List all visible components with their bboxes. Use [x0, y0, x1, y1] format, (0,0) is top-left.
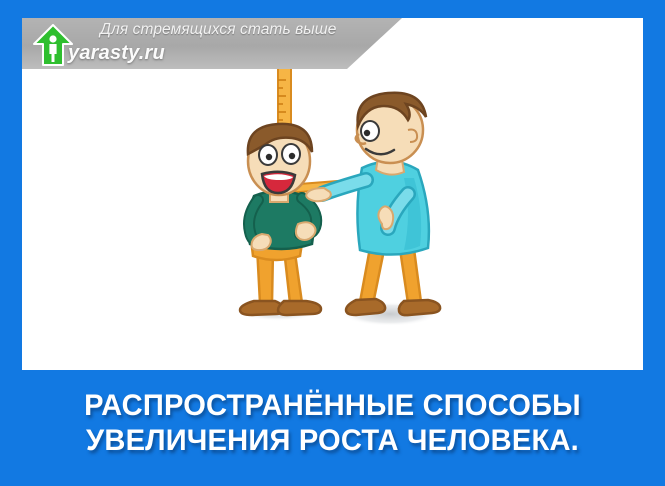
banner-site-name: yarasty.ru [68, 42, 165, 65]
image-root: Для стремящихся стать выше yarasty.ru РА… [0, 0, 665, 486]
tall-man-cyan-shirt [306, 93, 440, 315]
content-panel: Для стремящихся стать выше yarasty.ru [22, 18, 643, 370]
caption-line-2: УВЕЛИЧЕНИЯ РОСТА ЧЕЛОВЕКА. [10, 423, 655, 458]
short-man-green-shirt [240, 124, 321, 315]
caption: РАСПРОСТРАНЁННЫЕ СПОСОБЫ УВЕЛИЧЕНИЯ РОСТ… [0, 388, 665, 458]
watermark-banner: Для стремящихся стать выше yarasty.ru [22, 18, 402, 69]
banner-tagline: Для стремящихся стать выше [100, 21, 337, 39]
illustration [22, 18, 643, 370]
caption-line-1: РАСПРОСТРАНЁННЫЕ СПОСОБЫ [10, 388, 655, 423]
